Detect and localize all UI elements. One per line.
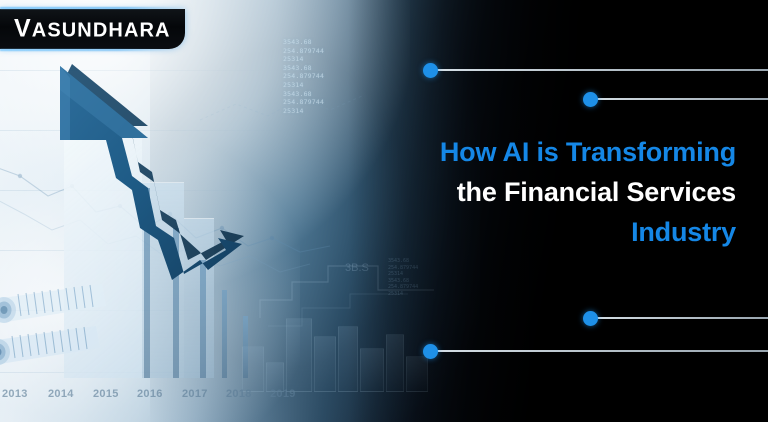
- connector-line-bottom-1: [590, 317, 768, 319]
- logo-initial: V: [14, 15, 32, 43]
- axis-year-2019: 2019: [270, 388, 296, 400]
- axis-year-2017: 2017: [182, 388, 208, 400]
- page-title: How AI is Transforming the Financial Ser…: [306, 132, 736, 252]
- logo-rest: ASUNDHARA: [32, 20, 171, 42]
- connector-dot-top-2: [583, 92, 598, 107]
- logo-glow-top: [0, 7, 178, 9]
- title-line-3: Industry: [306, 212, 736, 252]
- title-line-2: the Financial Services: [306, 172, 736, 212]
- logo-glow-bottom: [0, 49, 168, 51]
- connector-dot-bottom-2: [423, 344, 438, 359]
- connector-dot-top-1: [423, 63, 438, 78]
- chart-axis-years: 2013 2014 2015 2016 2017 2018 2019: [0, 384, 340, 400]
- connector-line-top-1: [430, 69, 768, 71]
- hero-banner: 3543.68 254.879744 25314 3543.68 254.879…: [0, 0, 768, 422]
- axis-year-2013: 2013: [2, 388, 28, 400]
- connector-line-top-2: [590, 98, 768, 100]
- brand-logo[interactable]: VASUNDHARA: [0, 9, 185, 49]
- axis-year-2018: 2018: [226, 388, 252, 400]
- axis-year-2014: 2014: [48, 388, 74, 400]
- axis-year-2015: 2015: [93, 388, 119, 400]
- connector-line-bottom-2: [430, 350, 768, 352]
- title-line-1: How AI is Transforming: [306, 132, 736, 172]
- axis-year-2016: 2016: [137, 388, 163, 400]
- connector-dot-bottom-1: [583, 311, 598, 326]
- growth-arrow-icon: [30, 60, 300, 350]
- logo-text: VASUNDHARA: [14, 15, 171, 44]
